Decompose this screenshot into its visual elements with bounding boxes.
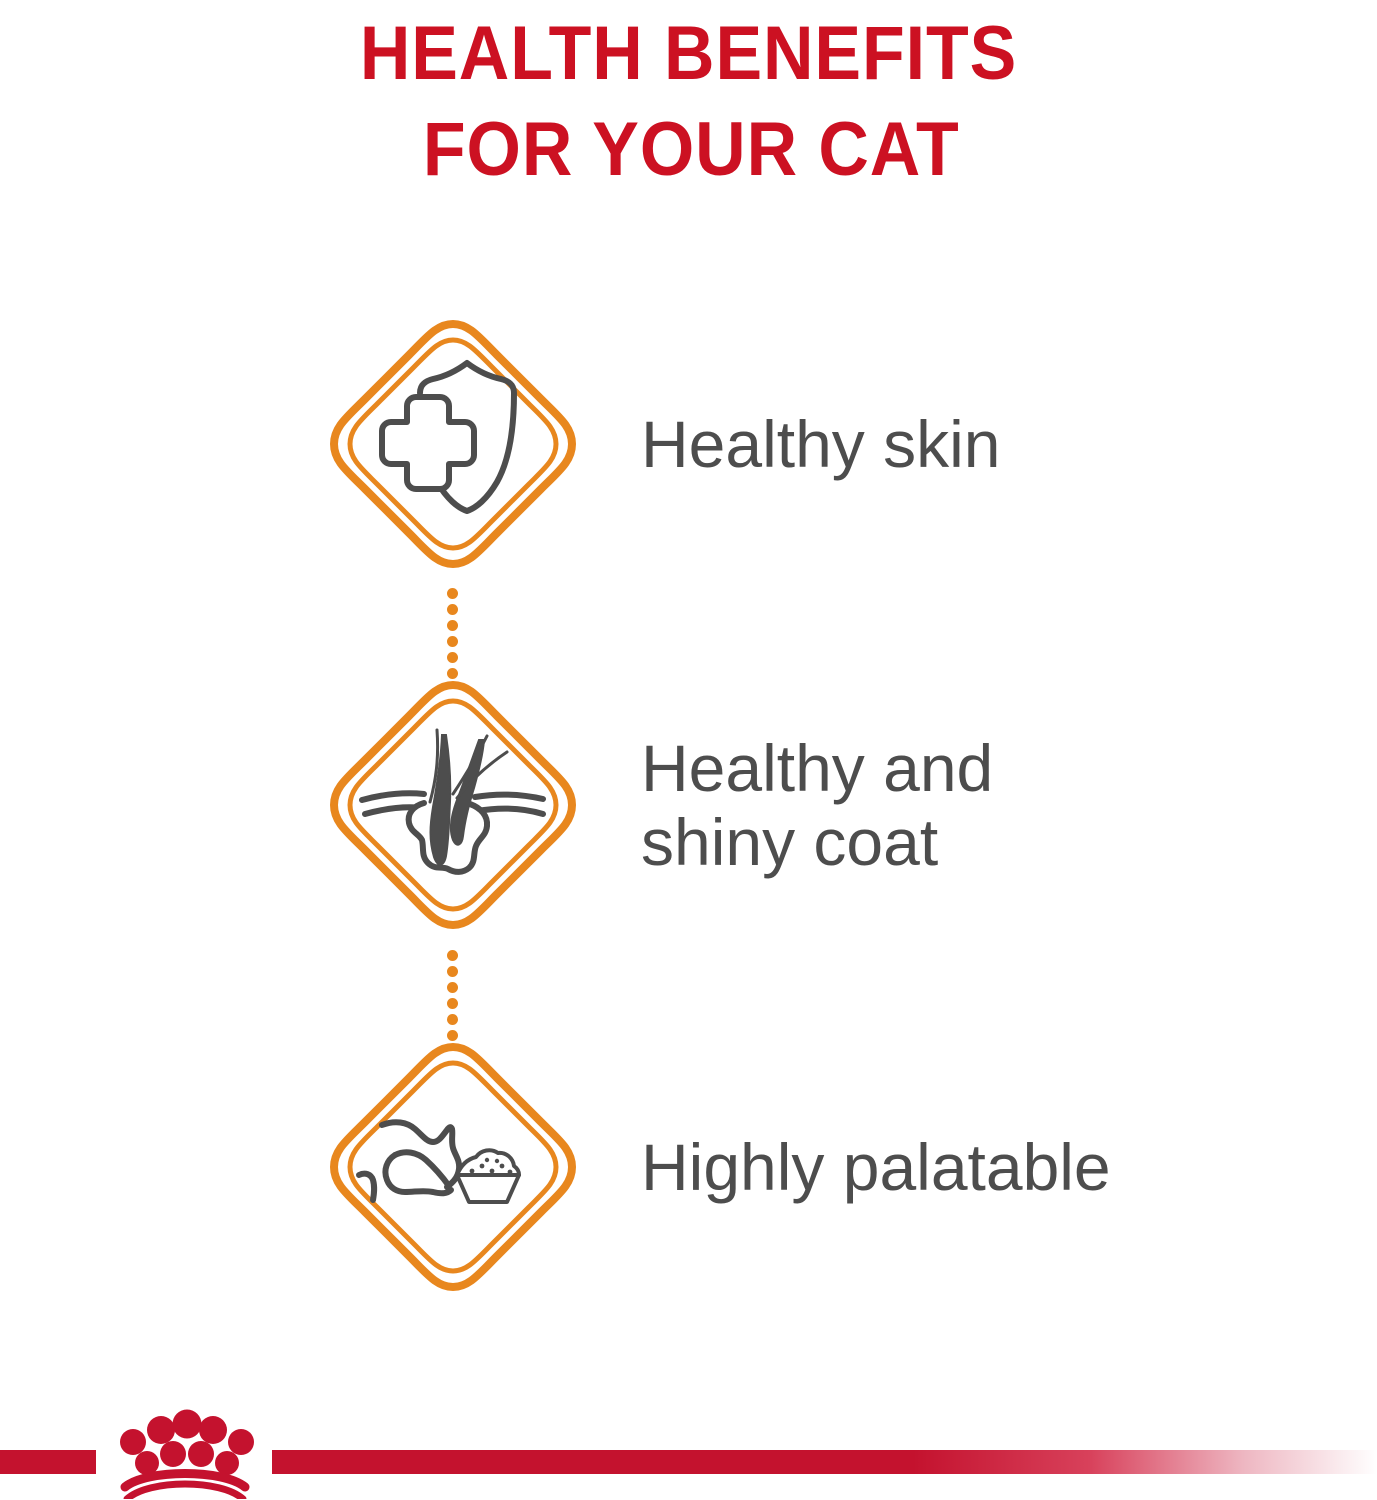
benefit-label-text: Healthy and shiny coat: [641, 731, 993, 879]
benefit-label-text: Healthy skin: [641, 407, 1001, 481]
connector-dot: [447, 982, 458, 993]
connector-dot: [447, 652, 458, 663]
connector-dot: [447, 1014, 458, 1025]
benefit-label-highly-palatable: Highly palatable: [641, 1042, 1341, 1292]
connector-dots-2: [444, 950, 460, 1028]
connector-dot: [447, 998, 458, 1009]
cat-eating-bowl-icon: [329, 1042, 577, 1292]
benefit-item-healthy-shiny-coat: Healthy and shiny coat: [0, 680, 1377, 930]
connector-dot: [447, 604, 458, 615]
connector-dots-1: [444, 588, 460, 666]
benefits-list: Healthy skin: [0, 0, 1377, 1500]
royal-canin-crown-logo: [95, 1409, 275, 1499]
hair-follicle-icon: [329, 680, 577, 930]
footer-bar-right: [272, 1450, 1377, 1474]
benefit-label-healthy-shiny-coat: Healthy and shiny coat: [641, 680, 1341, 930]
footer: [0, 1408, 1377, 1500]
connector-dot: [447, 950, 458, 961]
connector-dot: [447, 966, 458, 977]
connector-dot: [447, 636, 458, 647]
connector-dot: [447, 1030, 458, 1041]
connector-dot: [447, 588, 458, 599]
health-benefits-infographic: HEALTH BENEFITS FOR YOUR CAT Healthy ski: [0, 0, 1377, 1500]
connector-dot: [447, 620, 458, 631]
connector-dot: [447, 668, 458, 679]
benefit-item-highly-palatable: Highly palatable: [0, 1042, 1377, 1292]
benefit-item-healthy-skin: Healthy skin: [0, 319, 1377, 569]
footer-bar-left: [0, 1450, 96, 1474]
shield-cross-icon: [329, 319, 577, 569]
benefit-label-healthy-skin: Healthy skin: [641, 319, 1341, 569]
benefit-label-text: Highly palatable: [641, 1130, 1111, 1204]
